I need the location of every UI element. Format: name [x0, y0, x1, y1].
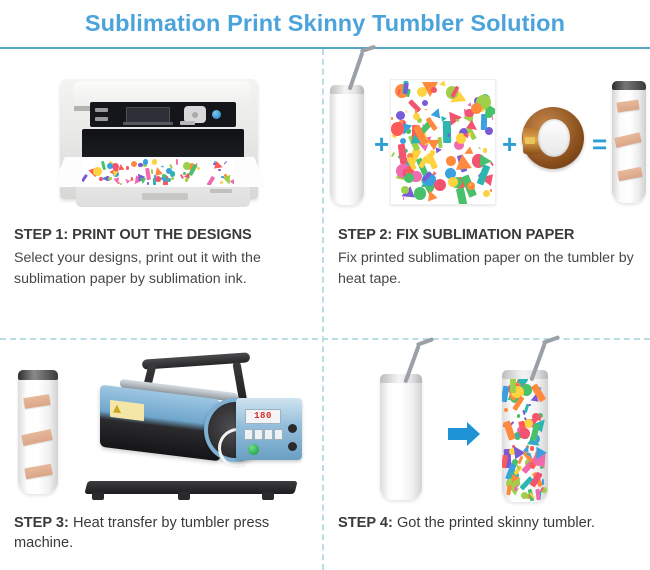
step-1-artwork [0, 49, 322, 227]
step-4-heading-rest: Got the printed skinny tumbler. [393, 515, 595, 531]
press-knob-lower [288, 442, 297, 451]
printed-tumbler-lid [502, 370, 548, 379]
press-knob-upper [288, 424, 297, 433]
printer-panel-strip [123, 122, 173, 125]
printer-button-1 [95, 108, 108, 112]
operator-equals: = [592, 131, 607, 157]
press-foot [262, 492, 274, 500]
tumbler-heat-press-machine: 180 [86, 350, 306, 502]
printer-status-leds [126, 103, 170, 106]
operator-plus-1: + [374, 131, 389, 157]
printed-tumbler [502, 362, 548, 502]
step-1-text: STEP 1: PRINT OUT THE DESIGNS Select you… [0, 227, 322, 289]
blank-tumbler [380, 364, 422, 500]
blank-tumbler [330, 77, 364, 205]
step-3-text: STEP 3: Heat transfer by tumbler press m… [0, 513, 322, 553]
heat-tape-roll [522, 107, 584, 169]
step-2-equation: + + = [324, 49, 650, 227]
step-4-heading: STEP 4: Got the printed skinny tumbler. [338, 513, 636, 533]
arrow-head [467, 422, 480, 446]
step-2-heading: STEP 2: FIX SUBLIMATION PAPER [338, 227, 636, 243]
arrow-right-icon [448, 422, 482, 446]
printer-model-label [210, 189, 232, 193]
page-title: Sublimation Print Skinny Tumbler Solutio… [85, 10, 565, 37]
steps-grid: STEP 1: PRINT OUT THE DESIGNS Select you… [0, 49, 650, 570]
tumbler-lid [380, 374, 422, 383]
step-1-cell: STEP 1: PRINT OUT THE DESIGNS Select you… [0, 49, 322, 338]
press-control-box: 180 [236, 398, 302, 460]
sublimation-paper [390, 79, 496, 205]
tape-roll-label [525, 137, 535, 144]
step-3-cell: 180 STE [0, 340, 322, 570]
press-foot [178, 492, 190, 500]
press-temperature-display: 180 [245, 409, 281, 424]
step-2-artwork: + + = [324, 49, 650, 227]
tumbler-body [330, 85, 364, 205]
poster-title-bar: Sublimation Print Skinny Tumbler Solutio… [0, 0, 650, 47]
printed-sheet [52, 157, 267, 187]
step-4-cell: STEP 4: Got the printed skinny tumbler. [324, 340, 650, 570]
printer-button-2 [95, 117, 108, 121]
printer-power-button-icon [212, 110, 221, 119]
wrapped-tumbler-lid [18, 370, 58, 380]
tumbler-lid [330, 85, 364, 94]
step-3-heading: STEP 3: Heat transfer by tumbler press m… [14, 513, 308, 553]
wrapped-tumbler [18, 366, 58, 494]
press-power-indicator [248, 444, 259, 455]
printer-small-button [180, 121, 195, 125]
step-1-heading: STEP 1: PRINT OUT THE DESIGNS [14, 227, 308, 243]
press-keypad [244, 427, 284, 436]
step-2-body: Fix printed sublimation paper on the tum… [338, 248, 636, 289]
arrow-shaft [448, 428, 468, 440]
step-3-artwork: 180 [0, 340, 322, 513]
press-display-value: 180 [246, 410, 280, 422]
step-4-label: STEP 4: [338, 515, 393, 531]
step-4-artwork [324, 340, 650, 513]
step-2-cell: + + = [324, 49, 650, 338]
tumbler-body [380, 374, 422, 500]
press-foot [92, 492, 104, 500]
step-3-label: STEP 3: [14, 515, 69, 531]
tape-roll-core [538, 119, 570, 156]
infographic-poster: Sublimation Print Skinny Tumbler Solutio… [0, 0, 650, 570]
printer-tray-handle [142, 193, 188, 200]
printed-design-pattern [82, 159, 234, 185]
wrapped-tumbler [612, 73, 646, 203]
step-1-body: Select your designs, print out it with t… [14, 248, 308, 289]
printer-control-panel [90, 102, 236, 127]
operator-plus-2: + [502, 131, 517, 157]
step-4-text: STEP 4: Got the printed skinny tumbler. [324, 513, 650, 533]
printed-tumbler-body [502, 372, 548, 502]
step-2-text: STEP 2: FIX SUBLIMATION PAPER Fix printe… [324, 227, 650, 289]
wrapped-tumbler-lid [612, 81, 646, 90]
sublimation-printer-illustration [52, 71, 267, 221]
